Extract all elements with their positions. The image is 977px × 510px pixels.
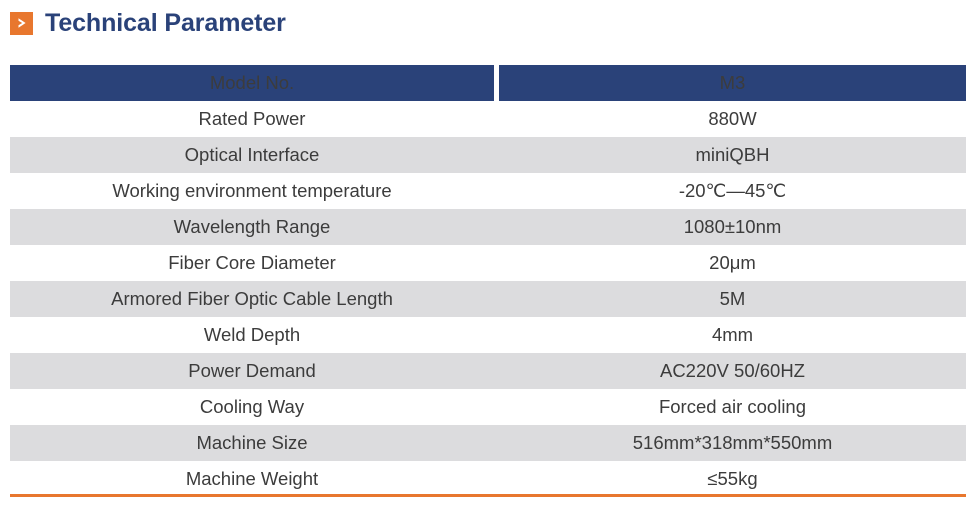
row-value: miniQBH xyxy=(499,137,966,173)
table-row: Machine Size 516mm*318mm*550mm xyxy=(10,425,966,461)
row-label: Rated Power xyxy=(10,101,494,137)
row-value: 20μm xyxy=(499,245,966,281)
table-row: Fiber Core Diameter 20μm xyxy=(10,245,966,281)
table-row: Wavelength Range 1080±10nm xyxy=(10,209,966,245)
technical-parameter-page: Technical Parameter Model No. M3 Rated P… xyxy=(0,0,977,510)
row-value: 5M xyxy=(499,281,966,317)
table-row: Working environment temperature -20℃—45℃ xyxy=(10,173,966,209)
row-value: ≤55kg xyxy=(499,461,966,497)
table-body: Rated Power 880W Optical Interface miniQ… xyxy=(10,101,966,497)
column-header-m3: M3 xyxy=(499,65,966,101)
row-label: Armored Fiber Optic Cable Length xyxy=(10,281,494,317)
row-label: Machine Weight xyxy=(10,461,494,497)
table-row: Rated Power 880W xyxy=(10,101,966,137)
table-header-row: Model No. M3 xyxy=(10,65,966,101)
row-value: -20℃—45℃ xyxy=(499,173,966,209)
row-value: 880W xyxy=(499,101,966,137)
column-header-model-no: Model No. xyxy=(10,65,494,101)
row-label: Power Demand xyxy=(10,353,494,389)
table-row: Machine Weight ≤55kg xyxy=(10,461,966,497)
row-value: AC220V 50/60HZ xyxy=(499,353,966,389)
table-row: Weld Depth 4mm xyxy=(10,317,966,353)
row-label: Working environment temperature xyxy=(10,173,494,209)
page-title: Technical Parameter xyxy=(10,7,286,39)
row-label: Weld Depth xyxy=(10,317,494,353)
table-row: Power Demand AC220V 50/60HZ xyxy=(10,353,966,389)
table-row: Cooling Way Forced air cooling xyxy=(10,389,966,425)
row-label: Machine Size xyxy=(10,425,494,461)
table-row: Armored Fiber Optic Cable Length 5M xyxy=(10,281,966,317)
row-label: Wavelength Range xyxy=(10,209,494,245)
row-label: Cooling Way xyxy=(10,389,494,425)
table-row: Optical Interface miniQBH xyxy=(10,137,966,173)
row-value: Forced air cooling xyxy=(499,389,966,425)
technical-parameter-table: Model No. M3 Rated Power 880W Optical In… xyxy=(10,65,966,497)
table-header: Model No. M3 xyxy=(10,65,966,101)
row-label: Fiber Core Diameter xyxy=(10,245,494,281)
row-value: 516mm*318mm*550mm xyxy=(499,425,966,461)
row-label: Optical Interface xyxy=(10,137,494,173)
row-value: 4mm xyxy=(499,317,966,353)
chevron-right-icon xyxy=(10,12,33,35)
bottom-accent-rule xyxy=(10,494,966,497)
page-title-label: Technical Parameter xyxy=(45,11,286,36)
row-value: 1080±10nm xyxy=(499,209,966,245)
